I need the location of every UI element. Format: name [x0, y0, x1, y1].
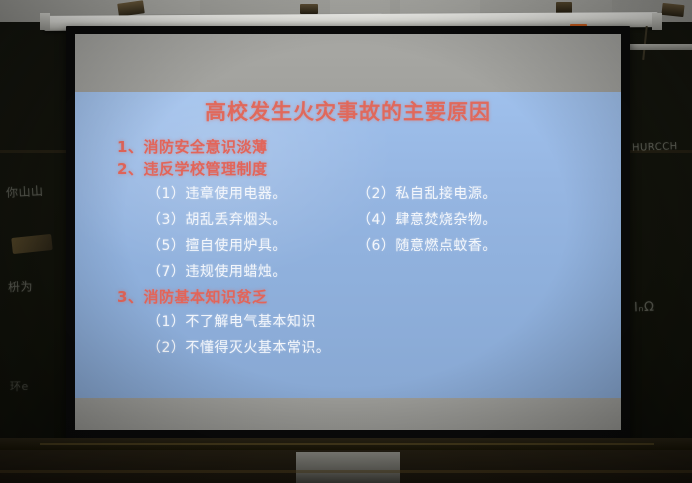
projection-screen-frame: 高校发生火灾事故的主要原因 1、消防安全意识淡薄 2、违反学校管理制度 （1）违…: [66, 26, 630, 438]
slide-bullet: （1）违章使用电器。: [147, 183, 287, 203]
desk-highlight: [296, 452, 400, 483]
slide-bullet: （1）不了解电气基本知识: [147, 311, 316, 331]
roller-end-cap: [652, 13, 662, 30]
section-number: 1、: [117, 138, 143, 156]
slide-section-1-heading: 1、消防安全意识淡薄: [117, 136, 267, 157]
projection-screen: 高校发生火灾事故的主要原因 1、消防安全意识淡薄 2、违反学校管理制度 （1）违…: [75, 34, 621, 430]
slide-bullet: （5）擅自使用炉具。: [147, 235, 287, 255]
classroom-scene: 你山山 枡为 环e HURCCH IₙΩ 高校发生火灾事故的主要原因 1、消防安…: [0, 0, 692, 483]
section-number: 2、: [117, 160, 143, 178]
slide-section-2-heading: 2、违反学校管理制度: [117, 158, 267, 179]
slide-bullet: （6）随意燃点蚊香。: [357, 235, 497, 255]
desk-edge: [0, 470, 692, 473]
wall-bracket: [661, 3, 684, 17]
chalk-tray-edge: [40, 443, 654, 445]
section-number: 3、: [117, 288, 143, 306]
section-text: 消防安全意识淡薄: [143, 138, 267, 156]
wall-bracket: [300, 4, 318, 14]
slide-bullet: （2）不懂得灭火基本常识。: [147, 337, 330, 357]
screen-blank-band-bottom: [75, 398, 621, 430]
screen-blank-band-top: [75, 34, 621, 92]
section-text: 违反学校管理制度: [143, 160, 267, 178]
section-text: 消防基本知识贫乏: [143, 288, 267, 306]
slide-bullet: （3）胡乱丢弃烟头。: [147, 209, 287, 229]
projected-slide: 高校发生火灾事故的主要原因 1、消防安全意识淡薄 2、违反学校管理制度 （1）违…: [75, 92, 621, 398]
slide-bullet: （2）私自乱接电源。: [357, 183, 497, 203]
slide-section-3-heading: 3、消防基本知识贫乏: [117, 286, 267, 307]
roller-end-cap: [40, 13, 50, 30]
slide-bullet: （4）肆意焚烧杂物。: [357, 209, 497, 229]
slide-title: 高校发生火灾事故的主要原因: [75, 96, 621, 126]
slide-bullet: （7）违规使用蜡烛。: [147, 261, 287, 281]
blackboard-divider: [0, 150, 74, 153]
